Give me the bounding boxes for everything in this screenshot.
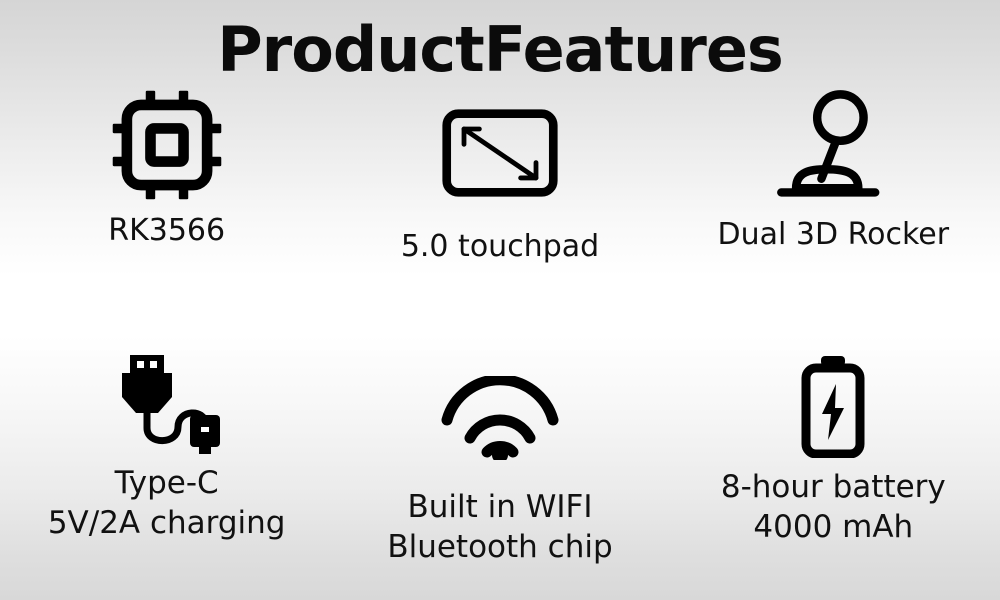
battery-charging-icon (794, 354, 872, 458)
feature-item-wifi: Built in WIFI Bluetooth chip (333, 342, 666, 567)
feature-label-usb: Type-C 5V/2A charging (48, 464, 286, 543)
feature-item-chip: RK3566 (0, 84, 333, 250)
feature-item-usb: Type-C 5V/2A charging (0, 342, 333, 543)
touchpad-screen-size-icon (440, 98, 560, 208)
page-title: ProductFeatures (217, 16, 783, 84)
feature-label-battery: 8-hour battery 4000 mAh (721, 468, 946, 547)
feature-label-touchpad: 5.0 touchpad (401, 228, 599, 266)
chip-icon (108, 90, 226, 200)
feature-item-touchpad: 5.0 touchpad (333, 84, 666, 266)
feature-item-rocker: Dual 3D Rocker (667, 84, 1000, 254)
feature-grid: RK3566 5.0 touchpad (0, 84, 1000, 600)
joystick-rocker-icon (775, 90, 891, 200)
feature-item-battery: 8-hour battery 4000 mAh (667, 342, 1000, 547)
wifi-signal-icon (439, 366, 561, 470)
feature-label-rocker: Dual 3D Rocker (718, 216, 950, 254)
feature-label-wifi: Built in WIFI Bluetooth chip (387, 488, 612, 567)
feature-label-chip: RK3566 (108, 212, 225, 250)
usb-cable-icon (108, 354, 226, 458)
product-features-poster: ProductFeatures (0, 0, 1000, 600)
